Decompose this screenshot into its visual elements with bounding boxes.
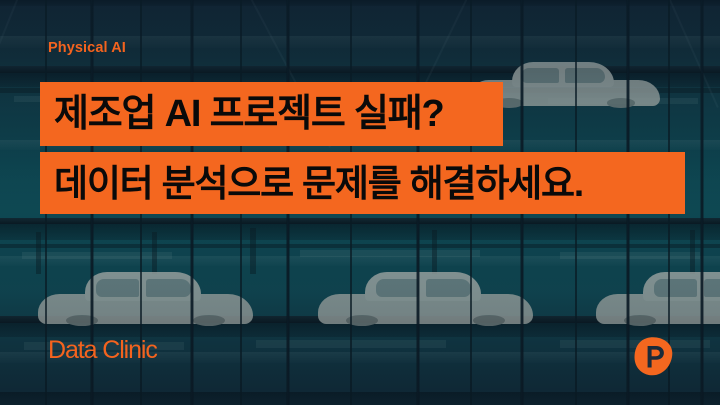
headline-line-1: 제조업 AI 프로젝트 실패? — [40, 95, 444, 133]
headline-line-2: 데이터 분석으로 문제를 해결하세요. — [40, 165, 583, 202]
headline-band-primary: 제조업 AI 프로젝트 실패? — [40, 82, 503, 146]
headline-band-secondary: 데이터 분석으로 문제를 해결하세요. — [40, 152, 685, 214]
banner-canvas: Physical AI 제조업 AI 프로젝트 실패? 데이터 분석으로 문제를… — [0, 0, 720, 405]
brand-name: Data Clinic — [48, 336, 157, 365]
eyebrow-label: Physical AI — [48, 40, 126, 56]
p-leaf-logo-icon — [633, 336, 674, 377]
